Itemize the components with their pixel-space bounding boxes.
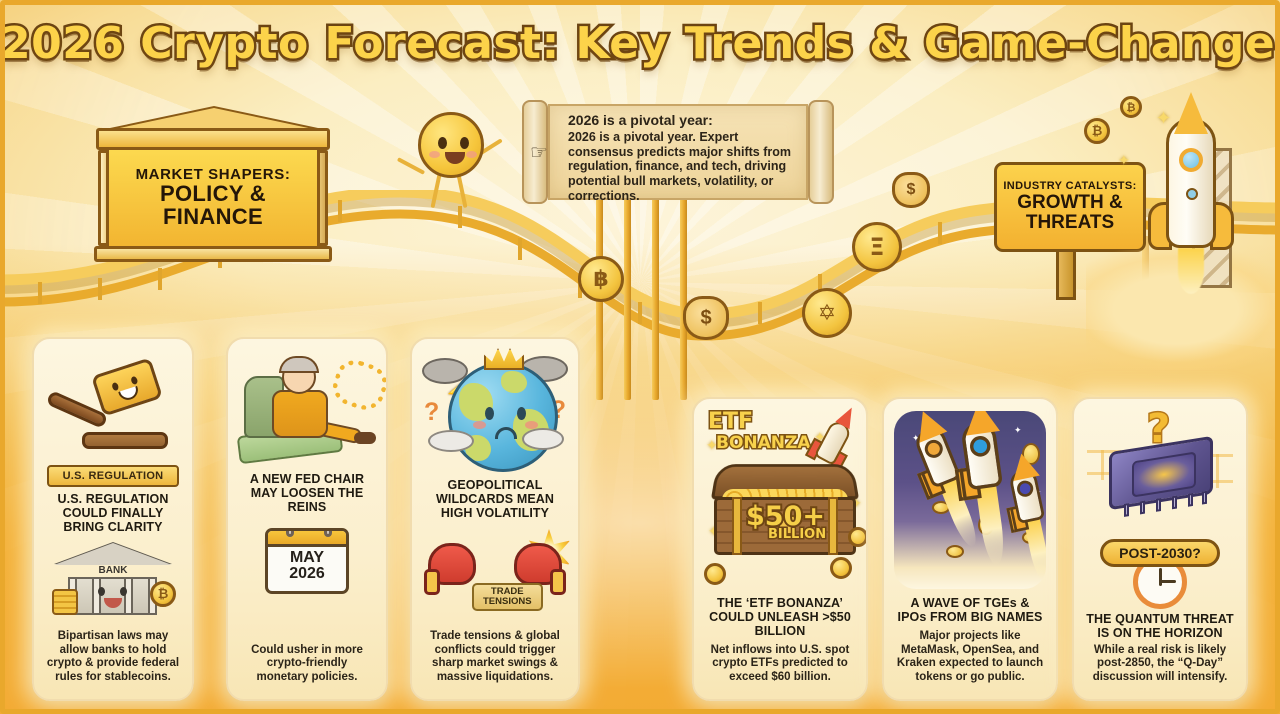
etf-word: ETF bbox=[708, 409, 753, 434]
sparkle-icon-2: ✦ bbox=[1118, 152, 1130, 169]
bitcoin-coin-icon: ฿ bbox=[578, 256, 624, 302]
rocket-flame bbox=[1178, 248, 1204, 294]
crowned-globe-icon: ⚡ ⚡ ? ? bbox=[422, 349, 568, 473]
card-geopolitics[interactable]: ⚡ ⚡ ? ? bbox=[410, 337, 580, 701]
calendar-year: 2026 bbox=[268, 566, 346, 582]
scroll-body: 2026 is a pivotal year. Expert consensus… bbox=[568, 130, 800, 203]
crown-icon bbox=[484, 348, 524, 370]
right-sign-line3: THREATS bbox=[1026, 213, 1114, 233]
generic-coin-icon: ✡ bbox=[802, 288, 852, 338]
industry-catalysts-sign-text: INDUSTRY CATALYSTS: GROWTH & THREATS bbox=[994, 162, 1146, 252]
infographic-canvas: 2026 Crypto Forecast: Key Trends & Game-… bbox=[0, 0, 1280, 714]
card-quantum-threat[interactable]: ? POST-2030? THE QUANTUM THREAT IS ON TH… bbox=[1072, 397, 1248, 701]
card-body: Could usher in more crypto-friendly mone… bbox=[238, 644, 376, 687]
sign-post bbox=[1056, 248, 1076, 300]
rocket-port bbox=[1186, 188, 1198, 200]
gavel-icon bbox=[44, 349, 182, 471]
post-2030-badge: POST-2030? bbox=[1100, 539, 1220, 567]
quantum-chip-icon: ? bbox=[1084, 409, 1236, 539]
us-regulation-ribbon: U.S. REGULATION bbox=[47, 465, 180, 487]
bonanza-word: BONANZA bbox=[716, 433, 811, 453]
coin-mascot bbox=[404, 112, 496, 242]
rocket-body bbox=[1166, 118, 1216, 248]
market-shapers-sign[interactable]: MARKET SHAPERS: POLICY & FINANCE bbox=[104, 128, 322, 268]
card-body: Net inflows into U.S. spot crypto ETFs p… bbox=[704, 644, 856, 687]
trade-tensions-tag: TRADE TENSIONS bbox=[472, 583, 543, 611]
scroll-headline: 2026 is a pivotal year: bbox=[568, 112, 800, 128]
card-body: While a real risk is likely post-2850, t… bbox=[1084, 644, 1236, 687]
pivotal-year-scroll: ☞ 2026 is a pivotal year: 2026 is a pivo… bbox=[522, 100, 834, 204]
rocket-nose-cone bbox=[1174, 92, 1208, 134]
treasure-chest-icon: ✦ ✦ ✦ ✦ ETF BONANZA bbox=[704, 409, 856, 591]
tag-line2: TENSIONS bbox=[483, 597, 532, 607]
card-fed-chair[interactable]: A NEW FED CHAIR MAY LOOSEN THE REINS MAY… bbox=[226, 337, 388, 701]
card-tges-ipos[interactable]: ✦ ✦ ✦ ● ● bbox=[882, 397, 1058, 701]
etf-amount-unit: BILLION bbox=[768, 527, 826, 542]
pointing-hand-icon: ☞ bbox=[530, 140, 548, 165]
card-headline: GEOPOLITICAL WILDCARDS MEAN HIGH VOLATIL… bbox=[424, 478, 566, 520]
three-rockets-icon: ✦ ✦ ✦ ● ● bbox=[894, 409, 1046, 591]
boxing-gloves-icon: TRADE TENSIONS bbox=[422, 524, 568, 616]
bank-icon: BANK ₿ bbox=[44, 538, 182, 620]
ethereum-coin-icon: Ξ bbox=[852, 222, 902, 272]
calendar-month: MAY bbox=[268, 550, 346, 566]
temple-pediment bbox=[110, 108, 318, 130]
card-body: Trade tensions & global conflicts could … bbox=[422, 630, 568, 687]
card-headline: U.S. REGULATION COULD FINALLY BRING CLAR… bbox=[46, 492, 180, 534]
sparkle-icon-1: ✦ bbox=[1156, 108, 1171, 129]
card-headline: A WAVE OF TGEs & IPOs FROM BIG NAMES bbox=[896, 596, 1044, 624]
left-sign-line3: FINANCE bbox=[163, 206, 263, 229]
card-us-regulation[interactable]: U.S. REGULATION U.S. REGULATION COULD FI… bbox=[32, 337, 194, 701]
floating-coin-2: ₿ bbox=[1120, 96, 1142, 118]
fed-chair-icon bbox=[238, 349, 376, 467]
market-shapers-sign-text: MARKET SHAPERS: POLICY & FINANCE bbox=[106, 150, 320, 246]
gold-chain-icon bbox=[328, 355, 388, 415]
left-sign-line2: POLICY & bbox=[160, 183, 266, 206]
card-headline: THE ‘ETF BONANZA’ COULD UNLEASH >$50 BIL… bbox=[706, 596, 854, 638]
temple-base bbox=[94, 246, 332, 262]
question-mark-icon-left: ? bbox=[424, 398, 439, 427]
calendar-icon: MAY 2026 bbox=[238, 518, 376, 604]
money-bag-icon-2: $ bbox=[892, 172, 930, 208]
rocket-window bbox=[1179, 148, 1203, 172]
scroll-roll-right bbox=[808, 100, 834, 204]
industry-catalysts-sign[interactable]: INDUSTRY CATALYSTS: GROWTH & THREATS bbox=[994, 162, 1146, 252]
card-headline: THE QUANTUM THREAT IS ON THE HORIZON bbox=[1086, 612, 1234, 640]
card-body: Bipartisan laws may allow banks to hold … bbox=[44, 630, 182, 687]
money-bag-icon: $ bbox=[683, 296, 729, 340]
card-body: Major projects like MetaMask, OpenSea, a… bbox=[894, 630, 1046, 687]
right-sign-line2: GROWTH & bbox=[1017, 193, 1123, 213]
mascot-face bbox=[418, 112, 484, 178]
floating-coin-1: ₿ bbox=[1084, 118, 1110, 144]
card-headline: A NEW FED CHAIR MAY LOOSEN THE REINS bbox=[240, 472, 374, 514]
bank-label: BANK bbox=[58, 565, 168, 576]
card-etf-bonanza[interactable]: ✦ ✦ ✦ ✦ ETF BONANZA bbox=[692, 397, 868, 701]
temple-roof bbox=[96, 128, 330, 150]
